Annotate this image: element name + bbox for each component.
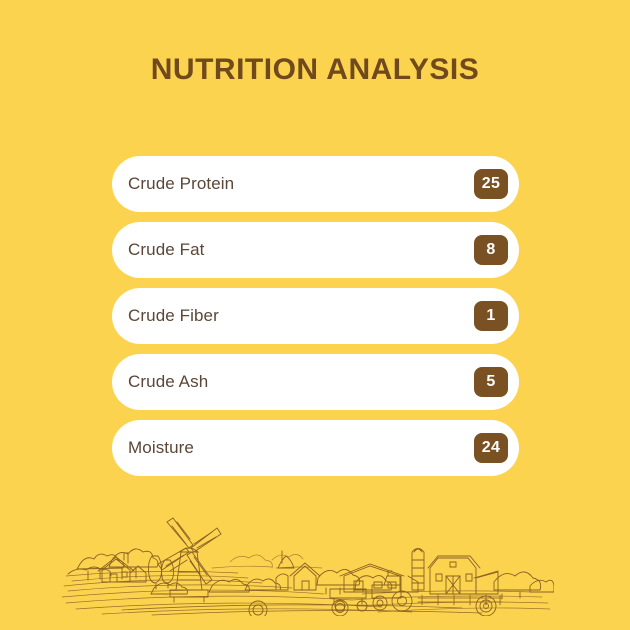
nutrient-value-badge: 25 xyxy=(474,169,508,199)
farm-landscape-illustration xyxy=(62,498,554,616)
nutrient-label: Crude Ash xyxy=(128,372,208,392)
list-item[interactable]: Crude Ash 5 xyxy=(112,354,519,410)
list-item[interactable]: Moisture 24 xyxy=(112,420,519,476)
nutrient-label: Crude Protein xyxy=(128,174,234,194)
nutrition-analysis-card: NUTRITION ANALYSIS Crude Protein 25 Crud… xyxy=(0,0,630,630)
list-item[interactable]: Crude Fiber 1 xyxy=(112,288,519,344)
nutrient-label: Crude Fat xyxy=(128,240,205,260)
nutrient-value-badge: 24 xyxy=(474,433,508,463)
list-item[interactable]: Crude Fat 8 xyxy=(112,222,519,278)
nutrient-value-badge: 5 xyxy=(474,367,508,397)
nutrient-value-badge: 1 xyxy=(474,301,508,331)
nutrient-list: Crude Protein 25 Crude Fat 8 Crude Fiber… xyxy=(112,156,519,486)
nutrient-label: Moisture xyxy=(128,438,194,458)
nutrient-value-badge: 8 xyxy=(474,235,508,265)
list-item[interactable]: Crude Protein 25 xyxy=(112,156,519,212)
nutrient-label: Crude Fiber xyxy=(128,306,219,326)
page-title: NUTRITION ANALYSIS xyxy=(0,52,630,88)
